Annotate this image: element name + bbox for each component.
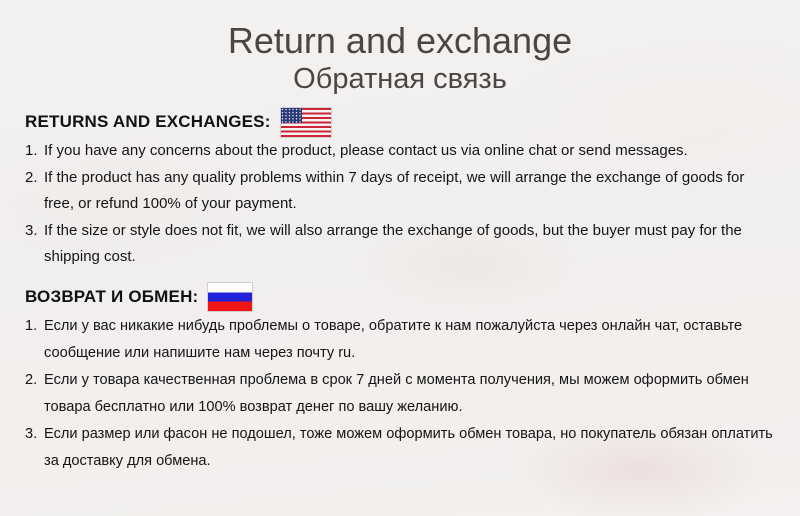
page-subtitle: Обратная связь <box>0 62 800 96</box>
return-and-exchange-page: Return and exchange Обратная связь RETUR… <box>0 0 800 516</box>
list-item-number: 2. <box>25 165 44 192</box>
list-item-number: 3. <box>25 421 44 448</box>
section-returns-and-exchanges-en: RETURNS AND EXCHANGES: 1. If you have an… <box>0 106 800 271</box>
section-heading-label-en: RETURNS AND EXCHANGES: <box>25 112 271 132</box>
list-item: 3. If the size or style does not fit, we… <box>25 218 800 271</box>
list-item-text: If you have any concerns about the produ… <box>44 138 800 165</box>
list-item: 2. If the product has any quality proble… <box>25 165 800 218</box>
page-title-block: Return and exchange Обратная связь <box>0 0 800 96</box>
policy-list-en: 1. If you have any concerns about the pr… <box>0 138 800 271</box>
list-item-number: 3. <box>25 218 44 245</box>
page-title: Return and exchange <box>0 21 800 61</box>
us-flag-icon <box>281 108 331 137</box>
list-item-number: 1. <box>25 313 44 340</box>
list-item-text: Если размер или фасон не подошел, тоже м… <box>44 421 800 475</box>
list-item-number: 1. <box>25 138 44 165</box>
section-heading-ru: ВОЗВРАТ И ОБМЕН: <box>0 281 800 313</box>
us-flag-canton-icon <box>281 108 302 124</box>
list-item: 1. If you have any concerns about the pr… <box>25 138 800 165</box>
section-returns-and-exchanges-ru: ВОЗВРАТ И ОБМЕН: 1. Если у вас никакие н… <box>0 281 800 475</box>
list-item-text: Если у товара качественная проблема в ср… <box>44 367 800 421</box>
list-item: 2. Если у товара качественная проблема в… <box>25 367 800 421</box>
ru-flag-icon <box>208 283 252 311</box>
list-item: 1. Если у вас никакие нибудь проблемы о … <box>25 313 800 367</box>
list-item-text: If the product has any quality problems … <box>44 165 800 218</box>
list-item: 3. Если размер или фасон не подошел, тож… <box>25 421 800 475</box>
policy-list-ru: 1. Если у вас никакие нибудь проблемы о … <box>0 313 800 475</box>
list-item-number: 2. <box>25 367 44 394</box>
section-heading-en: RETURNS AND EXCHANGES: <box>0 106 800 138</box>
list-item-text: If the size or style does not fit, we wi… <box>44 218 800 271</box>
section-heading-label-ru: ВОЗВРАТ И ОБМЕН: <box>25 287 198 307</box>
list-item-text: Если у вас никакие нибудь проблемы о тов… <box>44 313 800 367</box>
